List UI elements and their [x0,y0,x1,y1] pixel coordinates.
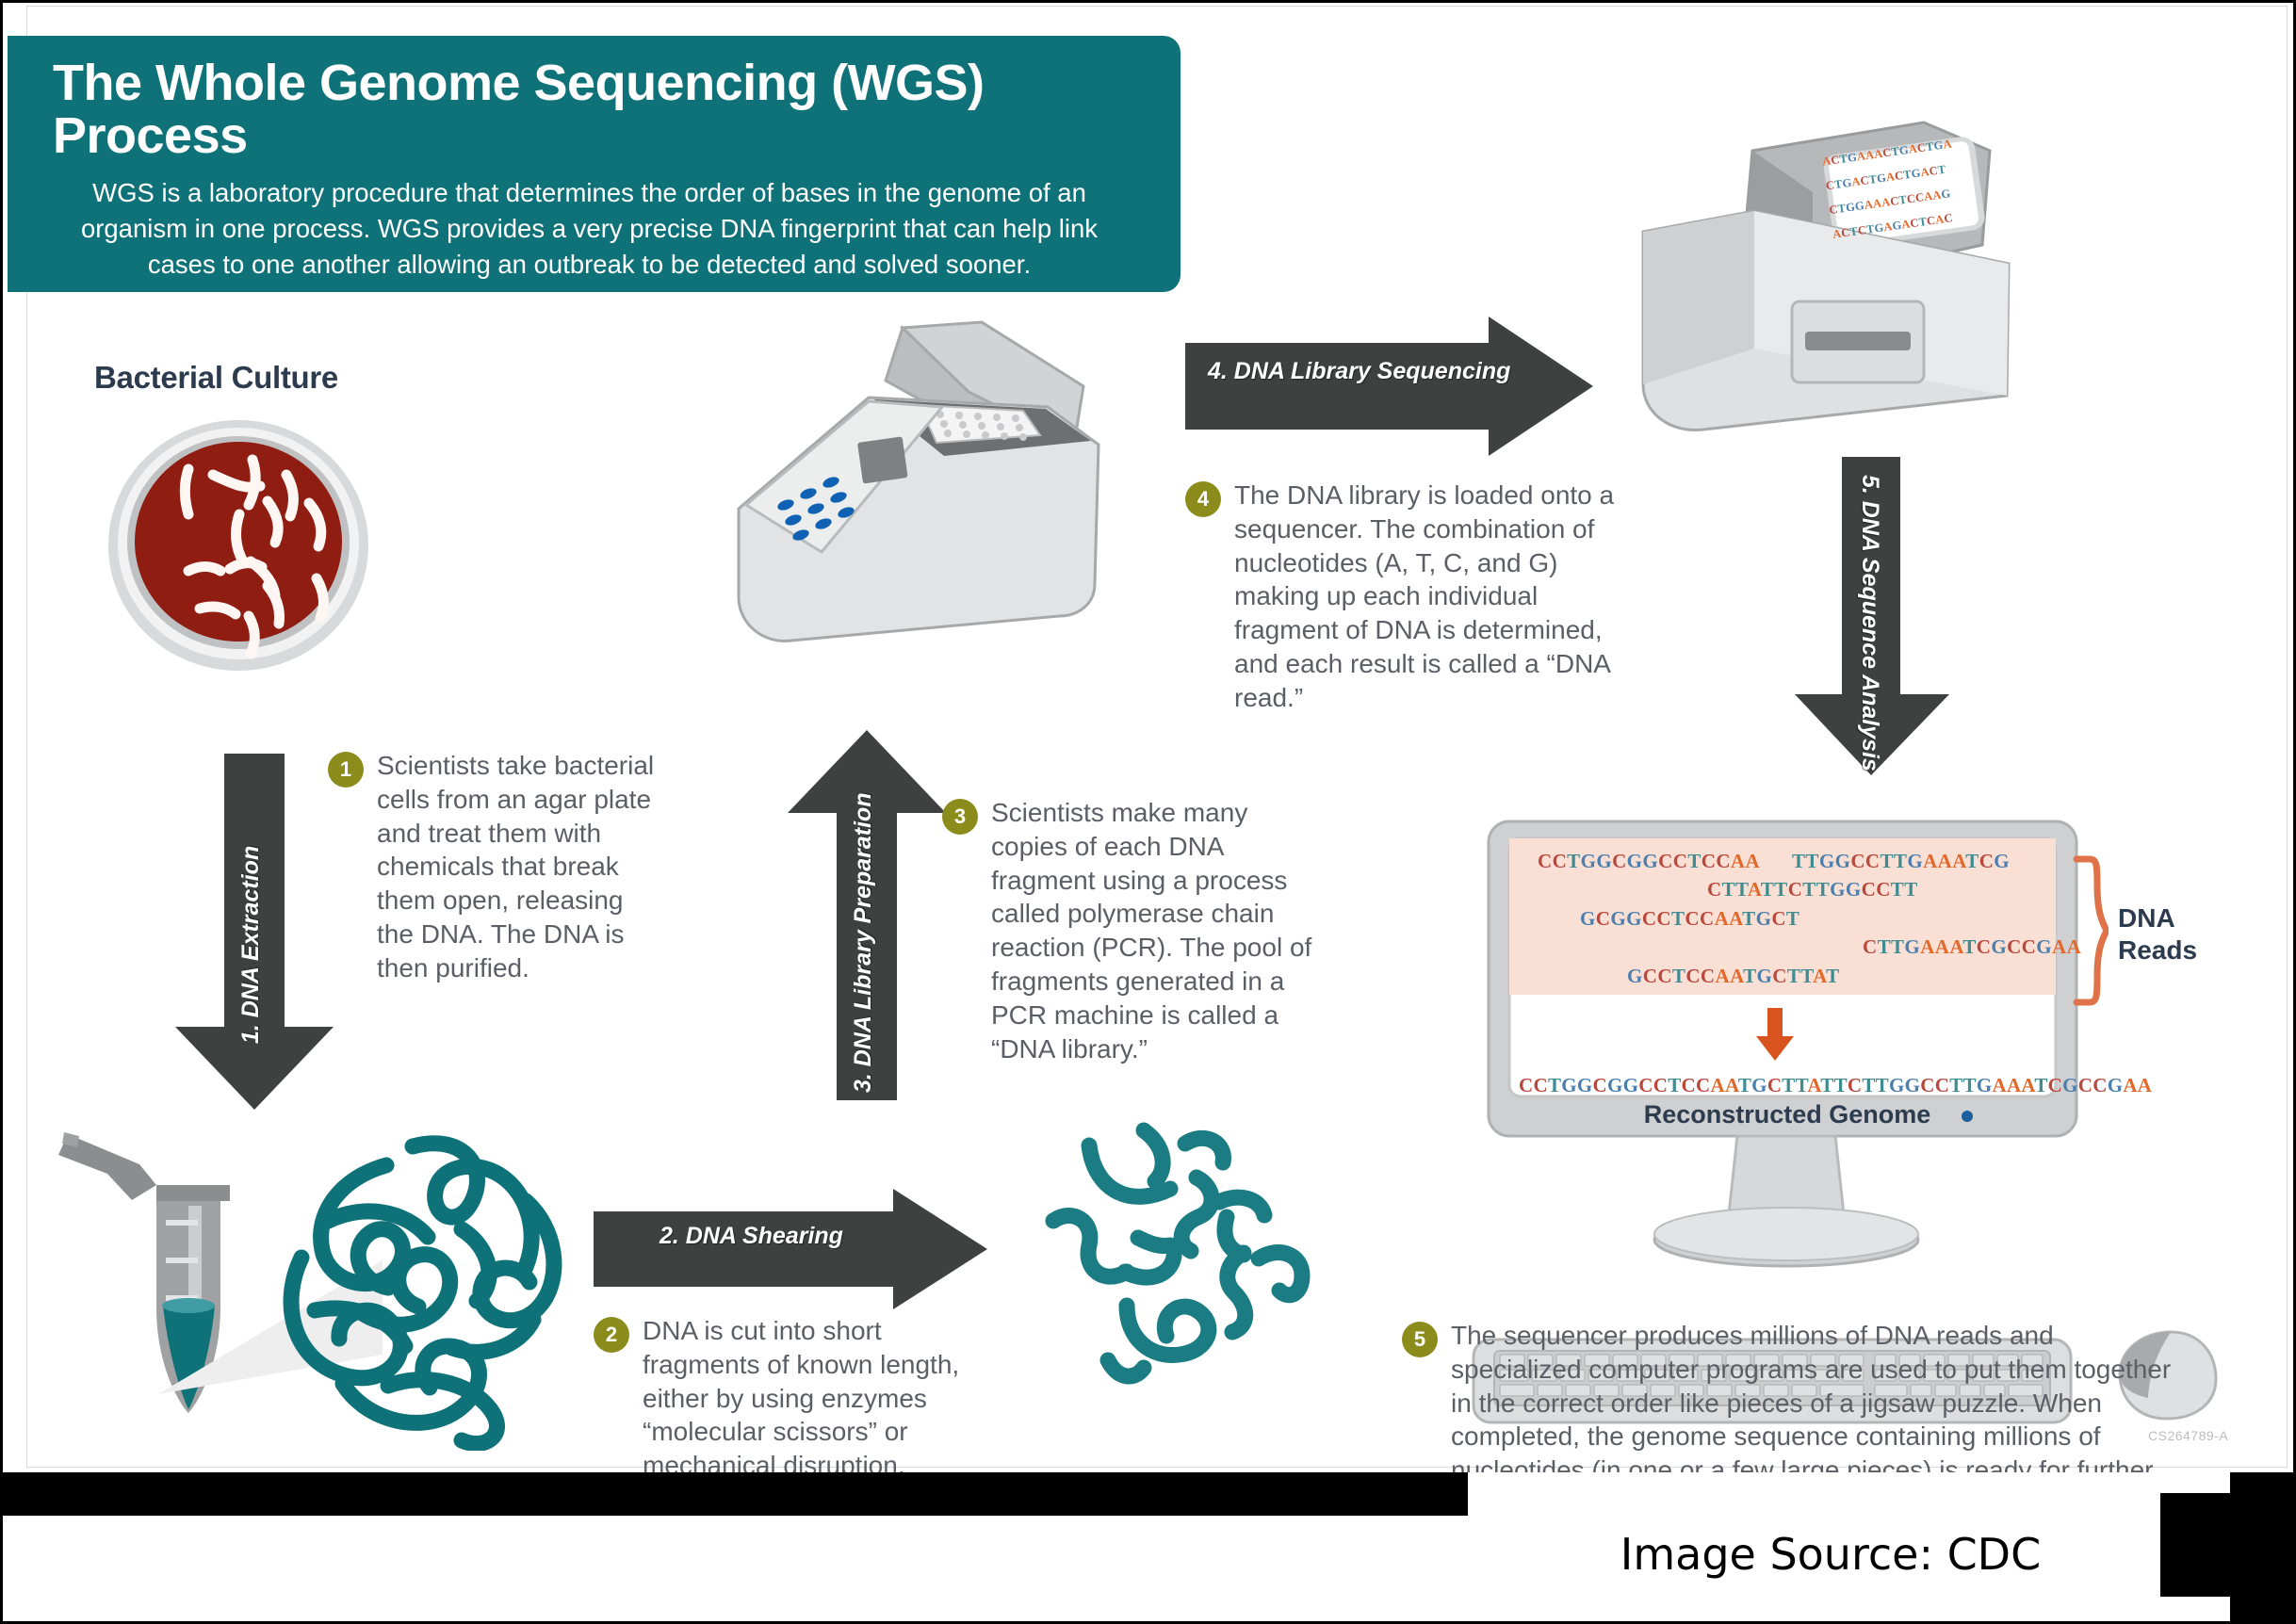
step-4-badge: 4 [1185,481,1221,517]
step-2-text: DNA is cut into short fragments of known… [643,1314,999,1483]
arrow-dna-shearing [594,1189,989,1311]
dna-reads-label-line1: DNA [2118,902,2197,934]
dna-read-4: GCGGCCTCCAATGCT [1580,907,1799,931]
dna-read-1: CCTGGCGGCCTCCAA [1538,850,1760,873]
tangled-dna-icon [273,1116,603,1451]
step-2-badge: 2 [594,1317,629,1353]
reconstructed-genome-label: Reconstructed Genome [1519,1100,2056,1129]
step-3-badge: 3 [942,799,978,835]
cs-code: CS264789-A [2148,1428,2228,1443]
page-subtitle: WGS is a laboratory procedure that deter… [53,175,1126,283]
step-1-text: Scientists take bacterial cells from an … [377,749,658,985]
dna-reads-label: DNA Reads [2118,902,2197,966]
petri-dish-icon [102,411,375,676]
step-3: 3 Scientists make many copies of each DN… [942,796,1319,1066]
reconstructed-genome-sequence: CCTGGCGGCCTCCAATGCTTATTCTTGGCCTTGAAATCGC… [1519,1074,2056,1097]
footer-black-box [2160,1493,2245,1597]
dna-fragments-icon [1027,1112,1338,1422]
dna-reads-sequences: CCTGGCGGCCTCCAATTGGCCTTGAAATCGCTTATTCTTG… [1509,838,2056,995]
dna-read-6: GCCTCCAATGCTTAT [1627,965,1840,988]
dna-read-3: CTTATTCTTGGCCTT [1707,878,1918,901]
genome-sequence-text: CCTGGCGGCCTCCAATGCTTATTCTTGGCCTTGAAATCGC… [1519,1074,2056,1097]
image-source-text: Image Source: CDC [1620,1529,2041,1580]
sequencer-screen-line-4: ACTCTGAGACTCAC [1832,211,1953,242]
infographic-canvas: The Whole Genome Sequencing (WGS) Proces… [0,0,2296,1624]
pcr-machine-icon [718,320,1114,659]
title-block: The Whole Genome Sequencing (WGS) Proces… [8,36,1181,292]
step-1: 1 Scientists take bacterial cells from a… [328,749,658,985]
step-1-badge: 1 [328,752,364,788]
step-4: 4 The DNA library is loaded onto a seque… [1185,479,1637,715]
arrow-4-label: 4. DNA Library Sequencing [1208,358,1510,385]
dna-read-2: TTGGCCTTGAAATCG [1792,850,2010,873]
step-3-text: Scientists make many copies of each DNA … [991,796,1319,1066]
page-title: The Whole Genome Sequencing (WGS) Proces… [53,57,1126,162]
arrow-3-label: 3. DNA Library Preparation [850,792,877,1093]
dna-reads-bracket-icon [2071,855,2109,1006]
footer-black-bar-left [3,1472,1468,1516]
step-2: 2 DNA is cut into short fragments of kno… [594,1314,999,1483]
arrow-5-label: 5. DNA Sequence Analysis [1856,475,1883,771]
step-5-badge: 5 [1402,1322,1438,1357]
step-4-text: The DNA library is loaded onto a sequenc… [1234,479,1637,715]
dna-reads-label-line2: Reads [2118,934,2197,966]
bacterial-culture-label: Bacterial Culture [94,360,338,396]
arrow-1-label: 1. DNA Extraction [237,846,265,1044]
footer: Image Source: CDC [3,1472,2293,1621]
assembly-arrow-icon [1754,1008,1796,1063]
arrow-2-label: 2. DNA Shearing [659,1223,843,1250]
arrow-dna-library-sequencing [1185,317,1595,458]
dna-read-5: CTTGAAATCGCCGAA [1863,935,2081,959]
